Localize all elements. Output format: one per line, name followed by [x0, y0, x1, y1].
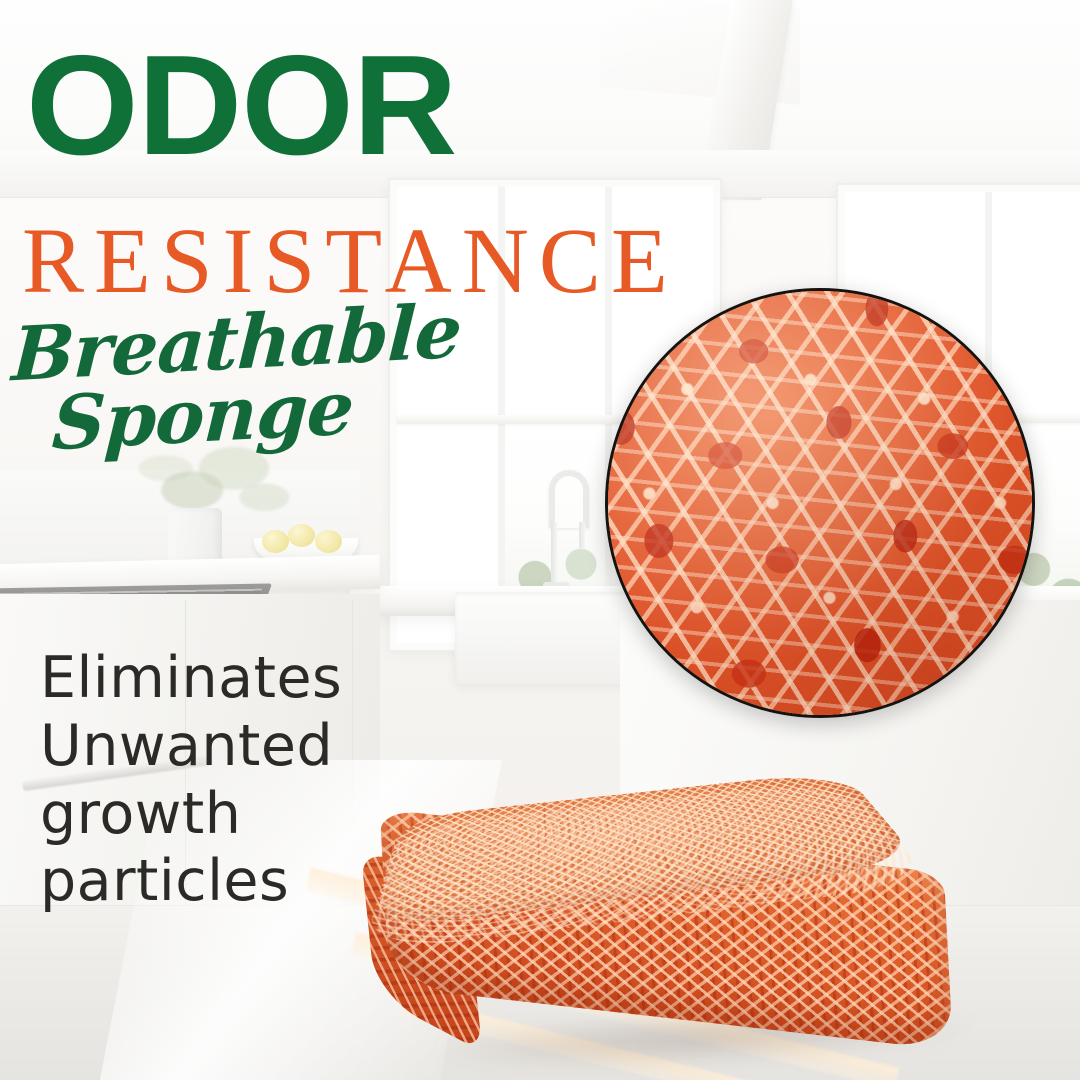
script-tagline: Breathable Sponge	[7, 296, 463, 462]
magnified-sponge-structure	[605, 288, 1035, 718]
benefit-line-2: Unwanted	[40, 713, 342, 781]
lemon	[288, 524, 315, 547]
lemon	[315, 530, 342, 553]
headline-odor: ODOR	[26, 48, 456, 164]
faucet-spout	[579, 522, 585, 548]
benefit-text-block: Eliminates Unwanted growth particles	[40, 645, 342, 916]
product-marketing-image: ODOR RESISTANCE Breathable Sponge Elimin…	[0, 0, 1080, 1080]
mesh-cell-texture	[605, 288, 1035, 718]
benefit-line-1: Eliminates	[40, 645, 342, 713]
lemon	[262, 530, 289, 553]
kitchen-faucet-icon	[549, 470, 589, 590]
benefit-line-4: particles	[40, 848, 342, 916]
benefit-line-3: growth	[40, 781, 342, 849]
faucet-arc	[549, 470, 589, 528]
faucet-stem	[551, 522, 557, 590]
